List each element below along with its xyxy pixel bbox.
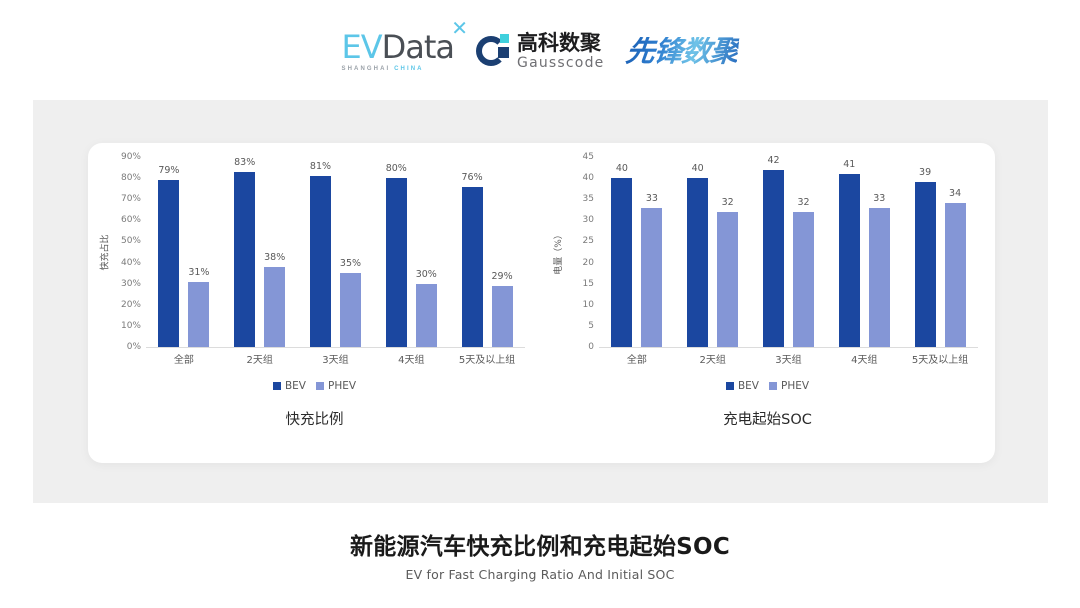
bar-phev[interactable]: 32: [793, 212, 814, 347]
x-tick-label: 5天及以上组: [902, 351, 978, 366]
bar-phev[interactable]: 30%: [416, 284, 437, 347]
chart-legend: BEVPHEV: [88, 380, 541, 392]
legend-label: BEV: [285, 380, 306, 392]
bar-value-label: 32: [722, 197, 734, 208]
bar-value-label: 40: [616, 163, 628, 174]
gausscode-dot-icon: [500, 34, 509, 43]
bar-groups: 79%31%83%38%81%35%80%30%76%29%: [146, 157, 525, 347]
chart-initial-soc: 电量（%）05101520253035404540334032423241333…: [541, 143, 994, 463]
x-tick-label: 4天组: [373, 351, 449, 366]
bar-value-label: 39: [919, 167, 931, 178]
bar-phev[interactable]: 33: [869, 208, 890, 347]
evdata-data-text: Data: [382, 31, 454, 63]
y-tick-label: 20: [583, 258, 594, 268]
bar-phev[interactable]: 29%: [492, 286, 513, 347]
bar-bev[interactable]: 40: [687, 178, 708, 347]
bar-phev[interactable]: 38%: [264, 267, 285, 347]
y-tick-label: 10: [583, 300, 594, 310]
chart-legend: BEVPHEV: [541, 380, 994, 392]
bar-group: 81%35%: [298, 157, 374, 347]
bars-plot: 79%31%83%38%81%35%80%30%76%29%: [146, 157, 525, 348]
legend-item-bev[interactable]: BEV: [273, 380, 306, 392]
xianfeng-cn-text: 先锋数聚: [625, 37, 740, 66]
x-tick-label: 5天及以上组: [449, 351, 525, 366]
bar-group: 4133: [826, 157, 902, 347]
y-tick-label: 20%: [121, 300, 141, 310]
bar-value-label: 33: [646, 193, 658, 204]
y-axis-ticks: 051015202530354045: [563, 157, 597, 347]
legend-swatch-icon: [726, 382, 734, 390]
x-tick-label: 全部: [146, 351, 222, 366]
bar-value-label: 35%: [340, 258, 361, 269]
bar-value-label: 80%: [386, 163, 407, 174]
y-tick-label: 80%: [121, 173, 141, 183]
bar-value-label: 41: [843, 159, 855, 170]
y-tick-label: 50%: [121, 236, 141, 246]
y-tick-label: 0%: [127, 342, 141, 352]
bar-group: 3934: [902, 157, 978, 347]
bar-phev[interactable]: 35%: [340, 273, 361, 347]
legend-swatch-icon: [769, 382, 777, 390]
y-tick-label: 5: [588, 321, 594, 331]
bar-group: 83%38%: [222, 157, 298, 347]
evdata-logo: EV Data ✕ SHANGHAI CHINA: [342, 31, 455, 72]
charts-container: 快充占比0%10%20%30%40%50%60%70%80%90%79%31%8…: [88, 143, 995, 463]
bar-groups: 40334032423241333934: [599, 157, 978, 347]
evdata-tagline-china: CHINA: [394, 66, 424, 72]
bar-value-label: 38%: [264, 252, 285, 263]
bar-value-label: 76%: [462, 172, 483, 183]
legend-item-bev[interactable]: BEV: [726, 380, 759, 392]
y-axis-label-text: 快充占比: [98, 234, 111, 270]
bar-bev[interactable]: 41: [839, 174, 860, 347]
x-tick-label: 2天组: [222, 351, 298, 366]
bar-value-label: 81%: [310, 161, 331, 172]
evdata-x-icon: ✕: [451, 19, 468, 39]
gausscode-cn-text: 高科数聚: [517, 33, 604, 54]
legend-item-phev[interactable]: PHEV: [769, 380, 809, 392]
chart-caption: 快充比例: [88, 408, 541, 429]
bar-bev[interactable]: 83%: [234, 172, 255, 347]
y-tick-label: 30%: [121, 279, 141, 289]
evdata-ev-text: EV: [342, 31, 382, 63]
x-tick-label: 2天组: [675, 351, 751, 366]
bar-value-label: 30%: [416, 269, 437, 280]
gausscode-logo: 高科数聚 Gausscode: [476, 33, 604, 70]
bar-group: 76%29%: [449, 157, 525, 347]
x-axis-labels: 全部2天组3天组4天组5天及以上组: [599, 351, 978, 366]
footer: 新能源汽车快充比例和充电起始SOC EV for Fast Charging R…: [0, 527, 1080, 582]
gausscode-en-text: Gausscode: [517, 56, 604, 70]
legend-label: PHEV: [781, 380, 809, 392]
legend-label: PHEV: [328, 380, 356, 392]
y-tick-label: 10%: [121, 321, 141, 331]
bar-bev[interactable]: 76%: [462, 187, 483, 347]
bar-phev[interactable]: 32: [717, 212, 738, 347]
gausscode-wordmark: 高科数聚 Gausscode: [517, 33, 604, 70]
bar-group: 4032: [675, 157, 751, 347]
bar-bev[interactable]: 80%: [386, 178, 407, 347]
logo-bar: EV Data ✕ SHANGHAI CHINA 高科数聚 Gausscode …: [0, 22, 1080, 80]
x-tick-label: 3天组: [751, 351, 827, 366]
legend-item-phev[interactable]: PHEV: [316, 380, 356, 392]
xianfeng-logo: 先锋数聚: [626, 37, 738, 66]
bar-value-label: 42: [767, 155, 779, 166]
bar-value-label: 34: [949, 188, 961, 199]
bar-bev[interactable]: 79%: [158, 180, 179, 347]
y-tick-label: 25: [583, 236, 594, 246]
y-axis-ticks: 0%10%20%30%40%50%60%70%80%90%: [110, 157, 144, 347]
bar-value-label: 33: [873, 193, 885, 204]
bar-value-label: 31%: [188, 267, 209, 278]
gausscode-mark-icon: [476, 34, 510, 68]
chart-fast-charging-ratio: 快充占比0%10%20%30%40%50%60%70%80%90%79%31%8…: [88, 143, 541, 463]
x-tick-label: 3天组: [298, 351, 374, 366]
y-tick-label: 45: [583, 152, 594, 162]
legend-swatch-icon: [316, 382, 324, 390]
bar-bev[interactable]: 39: [915, 182, 936, 347]
bar-group: 80%30%: [373, 157, 449, 347]
x-axis-labels: 全部2天组3天组4天组5天及以上组: [146, 351, 525, 366]
bar-bev[interactable]: 42: [763, 170, 784, 347]
charts-card: 快充占比0%10%20%30%40%50%60%70%80%90%79%31%8…: [88, 143, 995, 463]
y-tick-label: 35: [583, 194, 594, 204]
bar-value-label: 32: [797, 197, 809, 208]
y-tick-label: 30: [583, 215, 594, 225]
bar-group: 79%31%: [146, 157, 222, 347]
gausscode-square-icon: [498, 47, 509, 58]
plot-area: 电量（%）05101520253035404540334032423241333…: [541, 157, 994, 387]
y-tick-label: 15: [583, 279, 594, 289]
legend-swatch-icon: [273, 382, 281, 390]
bar-group: 4033: [599, 157, 675, 347]
legend-label: BEV: [738, 380, 759, 392]
y-axis-label-text: 电量（%）: [551, 230, 564, 275]
evdata-tagline-shanghai: SHANGHAI: [342, 66, 391, 72]
y-tick-label: 90%: [121, 152, 141, 162]
x-tick-label: 全部: [599, 351, 675, 366]
evdata-tagline: SHANGHAI CHINA: [342, 66, 424, 72]
bar-bev[interactable]: 40: [611, 178, 632, 347]
x-tick-label: 4天组: [826, 351, 902, 366]
plot-area: 快充占比0%10%20%30%40%50%60%70%80%90%79%31%8…: [88, 157, 541, 387]
y-tick-label: 40%: [121, 258, 141, 268]
bar-phev[interactable]: 34: [945, 203, 966, 347]
bar-value-label: 29%: [492, 271, 513, 282]
y-tick-label: 70%: [121, 194, 141, 204]
y-tick-label: 40: [583, 173, 594, 183]
y-tick-label: 0: [588, 342, 594, 352]
page-subtitle: EV for Fast Charging Ratio And Initial S…: [0, 567, 1080, 582]
chart-caption: 充电起始SOC: [541, 408, 994, 429]
bar-phev[interactable]: 31%: [188, 282, 209, 347]
y-tick-label: 60%: [121, 215, 141, 225]
evdata-wordmark: EV Data ✕: [342, 31, 455, 63]
bar-phev[interactable]: 33: [641, 208, 662, 347]
page-title: 新能源汽车快充比例和充电起始SOC: [0, 527, 1080, 561]
bar-bev[interactable]: 81%: [310, 176, 331, 347]
bar-group: 4232: [751, 157, 827, 347]
bar-value-label: 79%: [158, 165, 179, 176]
bar-value-label: 83%: [234, 157, 255, 168]
bar-value-label: 40: [692, 163, 704, 174]
bars-plot: 40334032423241333934: [599, 157, 978, 348]
